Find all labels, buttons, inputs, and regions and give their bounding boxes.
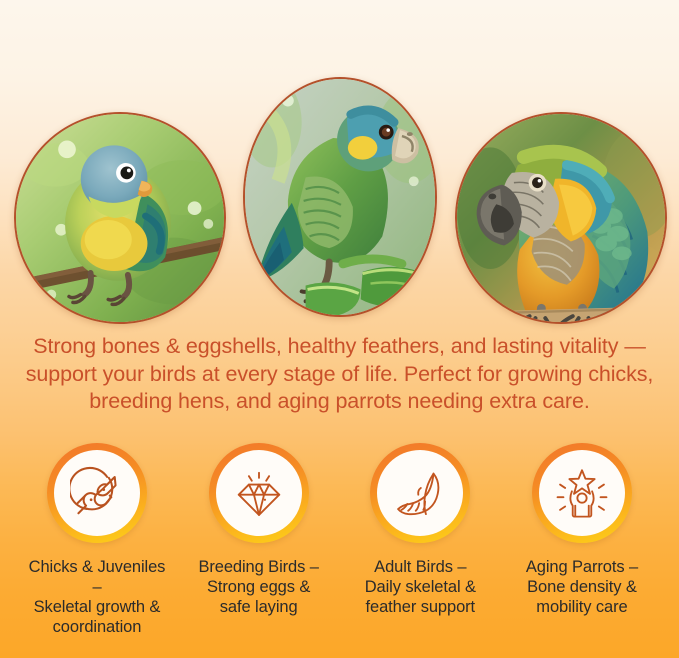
person-star-vitality-icon (555, 466, 609, 520)
benefit-badge (47, 443, 147, 543)
benefit-caption-line-3: coordination (22, 617, 172, 637)
benefit-caption: Adult Birds – Daily skeletal & feather s… (365, 557, 476, 617)
benefit-caption: Aging Parrots – Bone density & mobility … (526, 557, 638, 617)
benefit-breeding-birds: Breeding Birds – Strong eggs & safe layi… (184, 443, 334, 637)
badge-inner-circle (216, 450, 302, 536)
senior-macaw-photo (455, 112, 667, 324)
juvenile-parrot-photo (14, 112, 226, 324)
benefit-caption-line-3: mobility care (526, 597, 638, 617)
benefit-aging-parrots: Aging Parrots – Bone density & mobility … (507, 443, 657, 637)
feather-icon (393, 466, 447, 520)
body-copy-line-3: breeding hens, and aging parrots needing… (0, 388, 679, 416)
benefit-caption-line-1: Breeding Birds – (198, 557, 318, 577)
benefit-badge (532, 443, 632, 543)
badge-inner-circle (377, 450, 463, 536)
benefit-caption-line-1: Chicks & Juveniles – (22, 557, 172, 597)
benefit-badge (370, 443, 470, 543)
benefit-chicks-juveniles: Chicks & Juveniles – Skeletal growth & c… (22, 443, 172, 637)
benefit-caption-line-2: Skeletal growth & (22, 597, 172, 617)
benefit-caption-line-2: Bone density & (526, 577, 638, 597)
benefit-caption-line-2: Daily skeletal & (365, 577, 476, 597)
badge-inner-circle (54, 450, 140, 536)
benefit-adult-birds: Adult Birds – Daily skeletal & feather s… (345, 443, 495, 637)
benefit-caption-line-2: Strong eggs & (198, 577, 318, 597)
bone-joint-icon (70, 466, 124, 520)
body-copy: Strong bones & eggshells, healthy feathe… (0, 333, 679, 416)
benefit-caption-line-3: feather support (365, 597, 476, 617)
adult-parrot-photo (243, 77, 437, 317)
poster-root: FOR ALL BIRDS! (0, 0, 679, 658)
body-copy-line-1: Strong bones & eggshells, healthy feathe… (0, 333, 679, 361)
benefit-caption-line-1: Aging Parrots – (526, 557, 638, 577)
benefit-caption-line-3: safe laying (198, 597, 318, 617)
benefit-badge (209, 443, 309, 543)
benefit-caption-line-1: Adult Birds – (365, 557, 476, 577)
benefit-caption: Breeding Birds – Strong eggs & safe layi… (198, 557, 318, 617)
benefits-row: Chicks & Juveniles – Skeletal growth & c… (0, 443, 679, 637)
body-copy-line-2: support your birds at every stage of lif… (0, 361, 679, 389)
badge-inner-circle (539, 450, 625, 536)
benefit-caption: Chicks & Juveniles – Skeletal growth & c… (22, 557, 172, 637)
diamond-sparkle-icon (232, 466, 286, 520)
